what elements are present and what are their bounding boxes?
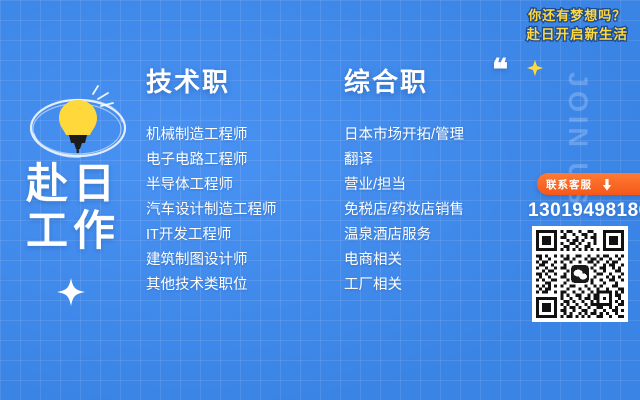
contact-phone-number[interactable]: 13019498186 [528,200,640,222]
list-item: 半导体工程师 [146,173,277,198]
arrow-down-icon [602,178,612,190]
page-title: 赴日 工作 [26,160,120,254]
list-item: 建筑制图设计师 [146,248,277,273]
column-technical: 技术职 机械制造工程师 电子电路工程师 半导体工程师 汽车设计制造工程师 IT开… [146,62,277,298]
slogan-line-1: 你还有梦想吗？ [527,6,629,25]
column-heading: 技术职 [146,62,277,99]
list-item: 其他技术类职位 [146,273,277,298]
slogan-block: 你还有梦想吗？ 赴日开启新生活 [527,6,629,44]
list-item: 营业/担当 [344,173,464,198]
list-item: 工厂相关 [344,273,464,298]
list-item: 翻译 [344,148,464,173]
list-item: IT开发工程师 [146,223,277,248]
qr-code[interactable] [532,226,628,322]
column-heading: 综合职 [344,62,464,99]
list-item: 汽车设计制造工程师 [146,198,277,223]
list-item: 日本市场开拓/管理 [344,123,464,148]
star-icon [527,60,543,76]
column-list: 日本市场开拓/管理 翻译 营业/担当 免税店/药妆店销售 温泉酒店服务 电商相关… [344,123,464,298]
poster-canvas: 赴日 工作 技术职 机械制造工程师 电子电路工程师 半导体工程师 汽车设计制造工… [0,0,640,400]
title-line-1: 赴日 [26,160,120,207]
list-item: 机械制造工程师 [146,123,277,148]
list-item: 温泉酒店服务 [344,223,464,248]
slogan-line-2: 赴日开启新生活 [527,25,629,44]
contact-support-button[interactable]: 联系客服 [537,173,640,195]
column-general: 综合职 日本市场开拓/管理 翻译 营业/担当 免税店/药妆店销售 温泉酒店服务 … [344,62,464,298]
list-item: 免税店/药妆店销售 [344,198,464,223]
column-list: 机械制造工程师 电子电路工程师 半导体工程师 汽车设计制造工程师 IT开发工程师… [146,123,277,298]
list-item: 电商相关 [344,248,464,273]
sparkle-icon [56,277,86,307]
list-item: 电子电路工程师 [146,148,277,173]
contact-button-label: 联系客服 [546,177,592,192]
quote-mark-icon: ❝ [492,56,508,86]
title-line-2: 工作 [26,207,120,254]
